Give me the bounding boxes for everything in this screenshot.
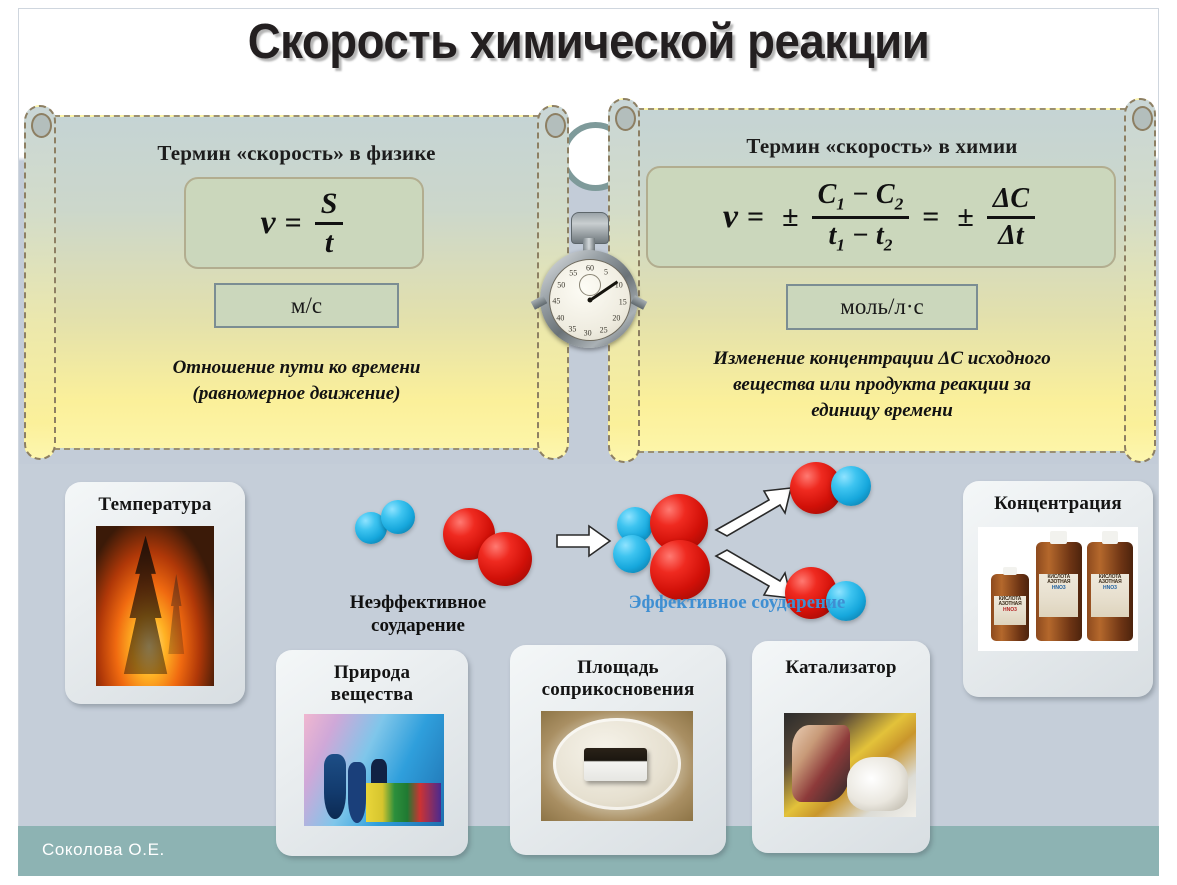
minus-2: − — [852, 220, 869, 251]
bottle-cap — [1102, 531, 1119, 544]
t2-subscript: 2 — [884, 235, 893, 254]
dial-number-55: 55 — [569, 268, 577, 277]
formula-equals: = — [285, 206, 302, 240]
dial-number-60: 60 — [586, 264, 594, 273]
molecule-red-atom — [650, 540, 710, 600]
chemistry-unit-box: моль/л·с — [786, 284, 978, 330]
card-title-line2: вещества — [276, 684, 468, 706]
bottle-label-line3: HNO3 — [1091, 586, 1130, 592]
physics-caption-line1: Отношение пути ко времени — [24, 355, 569, 381]
physics-caption-line2: (равномерное движение) — [24, 381, 569, 407]
chemistry-glassware-photo — [304, 714, 444, 826]
acid-bottle-small: КИСЛОТА АЗОТНАЯ HNO3 — [991, 574, 1029, 641]
molecule-red-atom — [478, 532, 532, 586]
factor-card-nature-of-substance[interactable]: Природа вещества — [276, 650, 468, 856]
footer-author: Соколова О.Е. — [42, 840, 165, 860]
dial-number-40: 40 — [556, 313, 564, 322]
physics-formula-box: v = S t — [184, 177, 424, 269]
c1-symbol: C — [818, 179, 837, 210]
molecule-blue-atom — [381, 500, 415, 534]
card-title-line2: соприкосновения — [510, 679, 726, 701]
stopwatch-center-pin — [588, 298, 593, 303]
product-arrow-up-icon — [713, 480, 797, 542]
factor-card-contact-area[interactable]: Площадь соприкосновения — [510, 645, 726, 855]
bottle-label: КИСЛОТА АЗОТНАЯ HNO3 — [994, 596, 1026, 625]
card-title-nature-of-substance: Природа вещества — [276, 662, 468, 707]
forest-fire-photo — [96, 526, 214, 686]
dial-number-20: 20 — [612, 314, 620, 323]
delta-c-numerator: ΔC — [987, 182, 1035, 216]
chemistry-formula: v = ± C1 − C2 t1 − t2 = ± ΔC Δt — [723, 178, 1039, 256]
slide-title: Скорость химической реакции — [41, 14, 1136, 70]
dial-number-25: 25 — [600, 325, 608, 334]
formula-variable-v: v — [723, 198, 738, 236]
chemistry-caption-line1: Изменение концентрации ΔС исходного — [608, 346, 1156, 372]
acid-bottles-photo: КИСЛОТА АЗОТНАЯ HNO3 КИСЛОТА АЗОТНАЯ HNO… — [978, 527, 1138, 651]
card-title-line1: Площадь — [510, 657, 726, 679]
stopwatch-dial: 60 5 10 15 20 25 30 35 40 45 50 55 — [549, 259, 631, 341]
c2-subscript: 2 — [895, 195, 904, 214]
t1-subscript: 1 — [836, 235, 845, 254]
card-title-catalyst: Катализатор — [752, 657, 930, 679]
card-title-concentration: Концентрация — [963, 493, 1153, 515]
dial-number-45: 45 — [552, 296, 560, 305]
chemistry-formula-box: v = ± C1 − C2 t1 − t2 = ± ΔC Δt — [646, 166, 1116, 268]
acid-bottle-medium: КИСЛОТА АЗОТНАЯ HNO3 — [1036, 542, 1082, 641]
formula-fraction: S t — [315, 186, 344, 261]
ineffective-collision-line2: соударение — [318, 615, 518, 638]
physics-scroll-panel: Термин «скорость» в физике v = S t м/с О… — [24, 115, 569, 450]
bottle-cap — [1050, 531, 1067, 544]
formula-equals-2: = — [922, 200, 939, 234]
minus-1: − — [852, 179, 869, 210]
bottle-label: КИСЛОТА АЗОТНАЯ HNO3 — [1039, 574, 1078, 618]
formula-variable-v: v — [261, 204, 276, 242]
bottle-label-line3: HNO3 — [1039, 586, 1078, 592]
acid-bottle-large: КИСЛОТА АЗОТНАЯ HNO3 — [1087, 542, 1133, 641]
chemistry-scroll-panel: Термин «скорость» в химии v = ± C1 − C2 … — [608, 108, 1156, 453]
physics-caption: Отношение пути ко времени (равномерное д… — [24, 355, 569, 407]
formula-fraction-delta: ΔC Δt — [987, 182, 1035, 253]
chemistry-caption-line3: единицу времени — [608, 398, 1156, 424]
formula-numerator-concentration: C1 − C2 — [812, 178, 910, 216]
formula-fraction-concentration: C1 − C2 t1 − t2 — [812, 178, 910, 256]
stopwatch-icon: 60 5 10 15 20 25 30 35 40 45 50 55 — [540, 212, 638, 352]
factor-card-temperature[interactable]: Температура — [65, 482, 245, 704]
dial-number-15: 15 — [619, 297, 627, 306]
ineffective-collision-label: Неэффективное соударение — [318, 592, 518, 638]
delta-t-denominator: Δt — [992, 219, 1029, 253]
card-title-line1: Природа — [276, 662, 468, 684]
t2-symbol: t — [876, 220, 884, 251]
c1-subscript: 1 — [836, 195, 845, 214]
dial-number-50: 50 — [557, 280, 565, 289]
bottle-label-line3: HNO3 — [994, 608, 1026, 614]
reaction-arrow-icon — [556, 524, 612, 558]
dial-number-35: 35 — [568, 324, 576, 333]
dial-number-30: 30 — [584, 328, 592, 337]
laboratory-catalyst-photo — [784, 713, 916, 817]
bottle-label: КИСЛОТА АЗОТНАЯ HNO3 — [1091, 574, 1130, 618]
physics-heading: Термин «скорость» в физике — [24, 141, 569, 166]
effective-collision-label: Эффективное соударение — [592, 592, 882, 615]
physics-unit-box: м/с — [214, 283, 399, 328]
stopwatch-case: 60 5 10 15 20 25 30 35 40 45 50 55 — [540, 250, 638, 348]
chemistry-heading: Термин «скорость» в химии — [608, 134, 1156, 159]
physics-formula: v = S t — [261, 186, 348, 261]
product-blue-atom — [831, 466, 871, 506]
ineffective-collision-line1: Неэффективное — [318, 592, 518, 615]
formula-denominator: t — [319, 225, 339, 261]
factor-card-catalyst[interactable]: Катализатор — [752, 641, 930, 853]
molecule-blue-atom — [613, 535, 651, 573]
card-title-contact-area: Площадь соприкосновения — [510, 657, 726, 702]
formula-plusminus-1: ± — [782, 200, 798, 234]
formula-numerator: S — [315, 186, 344, 222]
bottle-cap — [1003, 567, 1017, 576]
sugar-cube-petri-dish-photo — [541, 711, 693, 821]
chemistry-caption: Изменение концентрации ΔС исходного веще… — [608, 346, 1156, 425]
chemistry-caption-line2: вещества или продукта реакции за — [608, 372, 1156, 398]
factor-card-concentration[interactable]: Концентрация КИСЛОТА АЗОТНАЯ HNO3 КИСЛОТ… — [963, 481, 1153, 697]
formula-equals-1: = — [747, 200, 764, 234]
formula-denominator-time: t1 − t2 — [822, 219, 898, 257]
c2-symbol: C — [876, 179, 895, 210]
dial-number-5: 5 — [604, 268, 608, 277]
slide-root: Скорость химической реакции Термин «скор… — [0, 0, 1177, 885]
formula-plusminus-2: ± — [957, 200, 973, 234]
card-title-temperature: Температура — [65, 494, 245, 516]
